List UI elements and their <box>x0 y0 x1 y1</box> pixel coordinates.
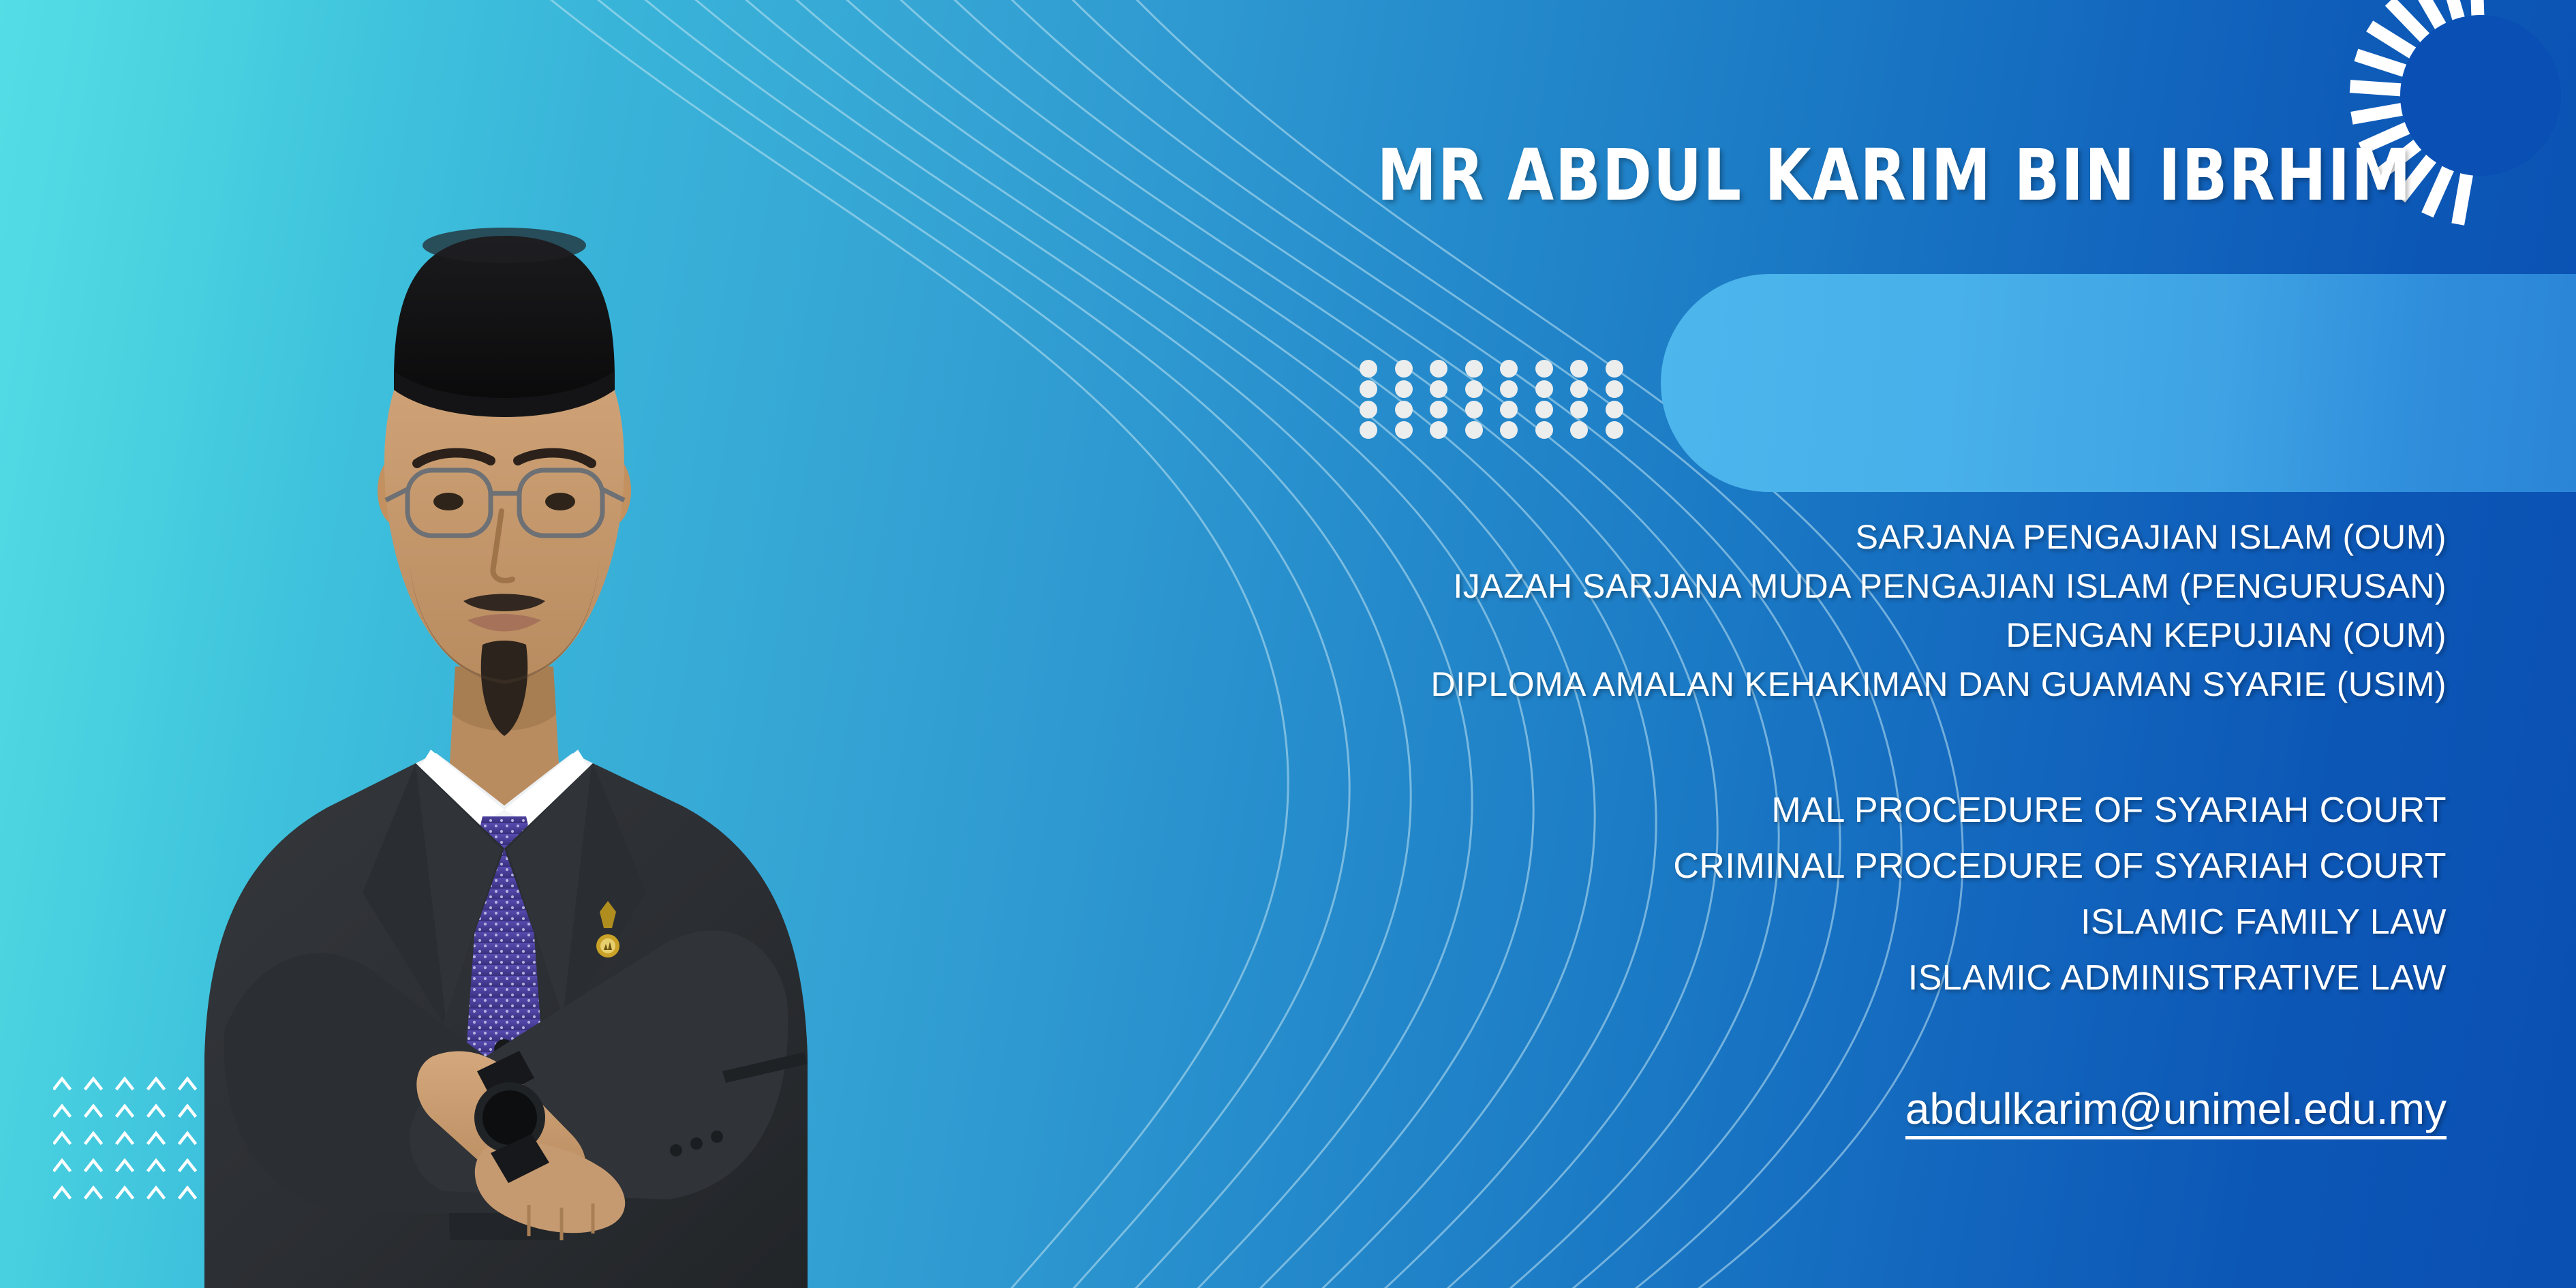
qualification-item: DIPLOMA AMALAN KEHAKIMAN DAN GUAMAN SYAR… <box>1430 660 2447 709</box>
portrait-photo <box>123 82 886 1288</box>
dot-grid-icon <box>1360 360 1640 442</box>
expertise-list: MAL PROCEDURE OF SYARIAH COURT CRIMINAL … <box>1673 782 2447 1006</box>
expertise-item: ISLAMIC FAMILY LAW <box>1673 894 2447 950</box>
qualification-item: DENGAN KEPUJIAN (OUM) <box>1430 611 2447 660</box>
expertise-item: ISLAMIC ADMINISTRATIVE LAW <box>1673 950 2447 1006</box>
rounded-pill-shape <box>1661 274 2576 492</box>
page-title: MR ABDUL KARIM BIN IBRHIM <box>1369 140 2420 211</box>
qualification-item: IJAZAH SARJANA MUDA PENGAJIAN ISLAM (PEN… <box>1430 562 2447 611</box>
profile-card: MR ABDUL KARIM BIN IBRHIM SARJANA PENGAJ… <box>0 0 2576 1288</box>
qualification-item: SARJANA PENGAJIAN ISLAM (OUM) <box>1430 512 2447 562</box>
expertise-item: CRIMINAL PROCEDURE OF SYARIAH COURT <box>1673 838 2447 894</box>
expertise-item: MAL PROCEDURE OF SYARIAH COURT <box>1673 782 2447 838</box>
qualifications-list: SARJANA PENGAJIAN ISLAM (OUM) IJAZAH SAR… <box>1430 512 2447 709</box>
email-link[interactable]: abdulkarim@unimel.edu.my <box>1905 1084 2447 1134</box>
email-text[interactable]: abdulkarim@unimel.edu.my <box>1905 1084 2447 1139</box>
